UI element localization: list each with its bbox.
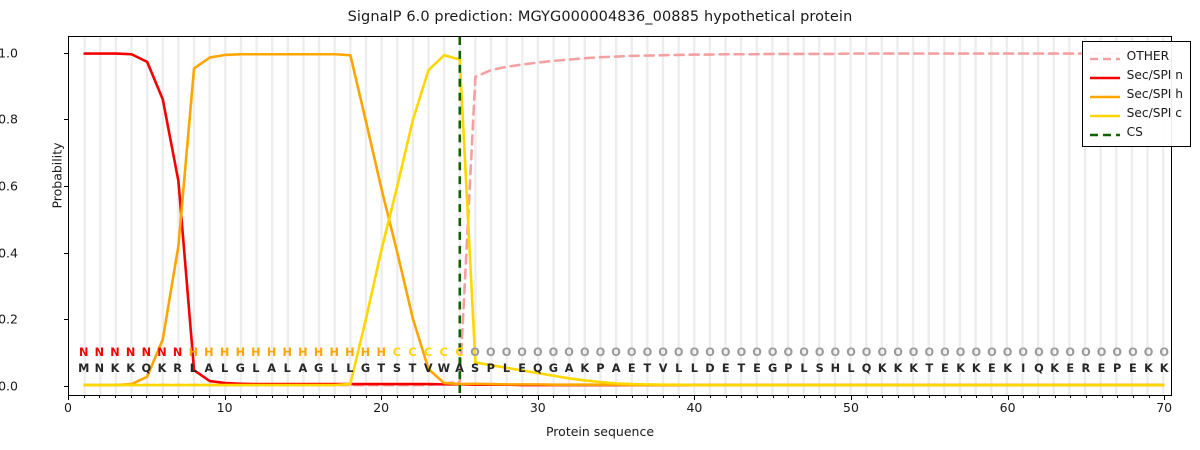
region-label: C (436, 346, 452, 359)
x-tick-minor (287, 396, 288, 398)
sequence-residue: A (561, 362, 577, 375)
sequence-residue: K (968, 362, 984, 375)
legend-item-sec-spi-n[interactable]: Sec/SPI n (1090, 65, 1183, 84)
region-label: C (405, 346, 421, 359)
data-curves (69, 37, 1171, 395)
legend-swatch (1090, 69, 1120, 81)
sequence-residue: T (733, 362, 749, 375)
x-tick-label: 0 (38, 400, 98, 415)
sequence-residue: D (702, 362, 718, 375)
region-label: O (1141, 346, 1157, 359)
sequence-residue: L (326, 362, 342, 375)
sequence-residue: L (796, 362, 812, 375)
x-tick-minor (475, 396, 476, 398)
region-label: O (1094, 346, 1110, 359)
sequence-residue: K (1141, 362, 1157, 375)
x-tick-mark (381, 396, 382, 400)
region-label: O (561, 346, 577, 359)
x-tick-minor (741, 396, 742, 398)
sequence-residue: L (217, 362, 233, 375)
legend-swatch-icon (1090, 72, 1120, 84)
region-label: O (1156, 346, 1172, 359)
sequence-residue: A (608, 362, 624, 375)
x-tick-minor (1133, 396, 1134, 398)
x-tick-label: 10 (195, 400, 255, 415)
y-axis-label: Probability (50, 96, 65, 256)
sequence-residue: I (1015, 362, 1031, 375)
legend-label: Sec/SPI n (1127, 68, 1183, 82)
x-tick-minor (193, 396, 194, 398)
legend[interactable]: OTHER Sec/SPI n Sec/SPI h Sec/SPI c (1082, 41, 1191, 147)
region-label: O (624, 346, 640, 359)
sequence-residue: R (1078, 362, 1094, 375)
legend-label: Sec/SPI h (1127, 87, 1183, 101)
region-label: O (592, 346, 608, 359)
legend-swatch-icon (1090, 91, 1120, 103)
x-tick-label: 40 (664, 400, 724, 415)
sequence-residue: Q (1031, 362, 1047, 375)
region-label: O (890, 346, 906, 359)
x-tick-mark (851, 396, 852, 400)
region-label: O (921, 346, 937, 359)
region-label: O (499, 346, 515, 359)
region-label: H (264, 346, 280, 359)
legend-item-sec-spi-c[interactable]: Sec/SPI c (1090, 103, 1183, 122)
region-label: O (953, 346, 969, 359)
x-tick-minor (1149, 396, 1150, 398)
x-tick-minor (585, 396, 586, 398)
region-label: O (483, 346, 499, 359)
region-label: O (1047, 346, 1063, 359)
sequence-residue: K (874, 362, 890, 375)
region-label: H (201, 346, 217, 359)
signalp-prediction-figure: SignalP 6.0 prediction: MGYG000004836_00… (0, 0, 1200, 450)
region-label: H (279, 346, 295, 359)
legend-swatch-icon (1090, 110, 1120, 122)
x-tick-minor (773, 396, 774, 398)
x-tick-minor (131, 396, 132, 398)
sequence-residue: E (749, 362, 765, 375)
x-tick-minor (397, 396, 398, 398)
region-label: O (843, 346, 859, 359)
x-tick-mark (1164, 396, 1165, 400)
sequence-residue: E (984, 362, 1000, 375)
sequence-residue: E (718, 362, 734, 375)
sequence-residue: Q (530, 362, 546, 375)
sequence-residue: K (154, 362, 170, 375)
curve-other (85, 54, 1164, 385)
x-tick-mark (68, 396, 69, 400)
sequence-residue: E (937, 362, 953, 375)
sequence-residue: M (76, 362, 92, 375)
sequence-residue: L (185, 362, 201, 375)
curve-sec-spi-c (85, 55, 1164, 385)
sequence-residue: K (1156, 362, 1172, 375)
sequence-residue: A (295, 362, 311, 375)
sequence-residue: K (1047, 362, 1063, 375)
x-tick-minor (1039, 396, 1040, 398)
y-tick-label: 0.2 (0, 312, 18, 327)
x-tick-minor (319, 396, 320, 398)
region-label: O (1015, 346, 1031, 359)
legend-swatch (1090, 126, 1120, 138)
region-label: O (702, 346, 718, 359)
x-tick-minor (209, 396, 210, 398)
sequence-residue: A (264, 362, 280, 375)
x-tick-minor (178, 396, 179, 398)
x-tick-minor (663, 396, 664, 398)
sequence-residue: L (248, 362, 264, 375)
x-tick-minor (1070, 396, 1071, 398)
sequence-residue: Q (138, 362, 154, 375)
x-axis-label: Protein sequence (0, 424, 1200, 439)
region-label: N (138, 346, 154, 359)
sequence-residue: L (279, 362, 295, 375)
sequence-residue: P (1109, 362, 1125, 375)
region-label: H (342, 346, 358, 359)
sequence-residue: G (358, 362, 374, 375)
region-label: O (671, 346, 687, 359)
region-label: H (185, 346, 201, 359)
region-label: O (984, 346, 1000, 359)
sequence-residue: E (1125, 362, 1141, 375)
x-tick-minor (303, 396, 304, 398)
sequence-residue: G (765, 362, 781, 375)
legend-swatch (1090, 50, 1120, 62)
x-tick-minor (444, 396, 445, 398)
legend-label: OTHER (1127, 49, 1169, 63)
sequence-residue: K (123, 362, 139, 375)
sequence-residue: K (890, 362, 906, 375)
region-label: O (608, 346, 624, 359)
x-tick-minor (835, 396, 836, 398)
region-label: O (937, 346, 953, 359)
region-label: H (311, 346, 327, 359)
x-tick-minor (945, 396, 946, 398)
sequence-residue: L (499, 362, 515, 375)
x-tick-mark (538, 396, 539, 400)
region-label: O (812, 346, 828, 359)
x-tick-minor (553, 396, 554, 398)
sequence-residue: T (405, 362, 421, 375)
region-label: N (107, 346, 123, 359)
sequence-residue: A (452, 362, 468, 375)
x-tick-minor (757, 396, 758, 398)
region-label: O (1078, 346, 1094, 359)
region-label: H (232, 346, 248, 359)
legend-swatch-icon (1090, 53, 1120, 65)
x-tick-minor (679, 396, 680, 398)
region-label: N (154, 346, 170, 359)
sequence-residue: L (342, 362, 358, 375)
sequence-residue: K (1000, 362, 1016, 375)
region-label: O (639, 346, 655, 359)
sequence-residue: G (232, 362, 248, 375)
region-label: O (796, 346, 812, 359)
x-tick-minor (256, 396, 257, 398)
legend-swatch-icon (1090, 129, 1120, 141)
x-tick-minor (820, 396, 821, 398)
x-tick-minor (961, 396, 962, 398)
x-tick-minor (1023, 396, 1024, 398)
region-label: O (1000, 346, 1016, 359)
region-label: O (1062, 346, 1078, 359)
x-tick-minor (1117, 396, 1118, 398)
region-label: H (373, 346, 389, 359)
x-tick-minor (1055, 396, 1056, 398)
x-tick-minor (522, 396, 523, 398)
region-label: O (577, 346, 593, 359)
x-tick-mark (225, 396, 226, 400)
legend-item-sec-spi-h[interactable]: Sec/SPI h (1090, 84, 1183, 103)
sequence-residue: N (91, 362, 107, 375)
region-label: H (358, 346, 374, 359)
x-tick-minor (632, 396, 633, 398)
x-tick-minor (992, 396, 993, 398)
legend-label: CS (1127, 125, 1143, 139)
x-tick-mark (1008, 396, 1009, 400)
x-tick-label: 20 (351, 400, 411, 415)
sequence-residue: R (170, 362, 186, 375)
sequence-residue: K (107, 362, 123, 375)
x-tick-minor (162, 396, 163, 398)
x-tick-minor (1086, 396, 1087, 398)
sequence-residue: W (436, 362, 452, 375)
region-label: O (874, 346, 890, 359)
sequence-residue: E (514, 362, 530, 375)
region-label: N (123, 346, 139, 359)
x-tick-minor (569, 396, 570, 398)
region-label: H (295, 346, 311, 359)
x-tick-minor (428, 396, 429, 398)
sequence-residue: Q (859, 362, 875, 375)
region-label: O (827, 346, 843, 359)
x-tick-minor (867, 396, 868, 398)
x-tick-minor (507, 396, 508, 398)
x-tick-minor (647, 396, 648, 398)
x-tick-minor (929, 396, 930, 398)
legend-swatch (1090, 107, 1120, 119)
region-label: O (749, 346, 765, 359)
x-tick-minor (84, 396, 85, 398)
legend-label: Sec/SPI c (1127, 106, 1182, 120)
sequence-residue: P (483, 362, 499, 375)
x-tick-minor (898, 396, 899, 398)
sequence-residue: K (953, 362, 969, 375)
x-tick-minor (1102, 396, 1103, 398)
x-tick-minor (366, 396, 367, 398)
sequence-residue: E (1062, 362, 1078, 375)
x-tick-minor (334, 396, 335, 398)
sequence-residue: S (467, 362, 483, 375)
sequence-residue: T (639, 362, 655, 375)
x-tick-minor (272, 396, 273, 398)
plot-area (68, 36, 1172, 396)
x-tick-minor (882, 396, 883, 398)
sequence-residue: S (389, 362, 405, 375)
x-tick-minor (788, 396, 789, 398)
y-tick-label: 1.0 (0, 45, 18, 60)
x-tick-minor (600, 396, 601, 398)
sequence-residue: T (373, 362, 389, 375)
sequence-residue: L (671, 362, 687, 375)
y-tick-label: 0.6 (0, 179, 18, 194)
region-label: N (170, 346, 186, 359)
sequence-residue: E (1094, 362, 1110, 375)
sequence-residue: P (592, 362, 608, 375)
legend-item-other[interactable]: OTHER (1090, 46, 1183, 65)
x-tick-minor (616, 396, 617, 398)
x-tick-minor (491, 396, 492, 398)
sequence-residue: K (906, 362, 922, 375)
legend-item-cs[interactable]: CS (1090, 122, 1183, 141)
region-label: O (968, 346, 984, 359)
curve-sec-spi-h (85, 54, 1164, 385)
region-label: N (76, 346, 92, 359)
region-label: C (389, 346, 405, 359)
region-label: O (530, 346, 546, 359)
x-tick-minor (350, 396, 351, 398)
x-tick-minor (115, 396, 116, 398)
x-tick-mark (694, 396, 695, 400)
page-title: SignalP 6.0 prediction: MGYG000004836_00… (0, 9, 1200, 25)
region-label: O (1125, 346, 1141, 359)
sequence-residue: P (780, 362, 796, 375)
region-label: O (906, 346, 922, 359)
region-label: C (452, 346, 468, 359)
y-tick-label: 0.4 (0, 245, 18, 260)
region-label: O (859, 346, 875, 359)
x-tick-label: 60 (978, 400, 1038, 415)
x-tick-label: 30 (508, 400, 568, 415)
y-tick-label: 0.0 (0, 379, 18, 394)
region-label: O (467, 346, 483, 359)
sequence-residue: K (577, 362, 593, 375)
region-label: O (733, 346, 749, 359)
region-label: H (217, 346, 233, 359)
x-tick-label: 70 (1134, 400, 1194, 415)
sequence-residue: L (843, 362, 859, 375)
x-tick-minor (240, 396, 241, 398)
x-tick-minor (804, 396, 805, 398)
sequence-residue: H (827, 362, 843, 375)
x-tick-minor (914, 396, 915, 398)
region-label: C (420, 346, 436, 359)
region-label: O (545, 346, 561, 359)
region-label: O (686, 346, 702, 359)
region-label: H (248, 346, 264, 359)
region-label: O (514, 346, 530, 359)
sequence-residue: G (311, 362, 327, 375)
x-tick-minor (726, 396, 727, 398)
region-label: O (718, 346, 734, 359)
region-label: H (326, 346, 342, 359)
sequence-residue: S (812, 362, 828, 375)
region-label: N (91, 346, 107, 359)
sequence-residue: E (624, 362, 640, 375)
sequence-residue: V (655, 362, 671, 375)
x-tick-minor (460, 396, 461, 398)
sequence-residue: L (686, 362, 702, 375)
curve-sec-spi-n (85, 54, 1164, 385)
y-tick-label: 0.8 (0, 112, 18, 127)
region-label: O (1109, 346, 1125, 359)
sequence-residue: A (201, 362, 217, 375)
sequence-residue: G (545, 362, 561, 375)
region-label: O (655, 346, 671, 359)
x-tick-label: 50 (821, 400, 881, 415)
x-tick-minor (976, 396, 977, 398)
region-label: O (765, 346, 781, 359)
region-label: O (1031, 346, 1047, 359)
sequence-residue: T (921, 362, 937, 375)
sequence-residue: V (420, 362, 436, 375)
x-tick-minor (413, 396, 414, 398)
x-tick-minor (99, 396, 100, 398)
x-tick-minor (146, 396, 147, 398)
x-tick-minor (710, 396, 711, 398)
region-label: O (780, 346, 796, 359)
legend-swatch (1090, 88, 1120, 100)
